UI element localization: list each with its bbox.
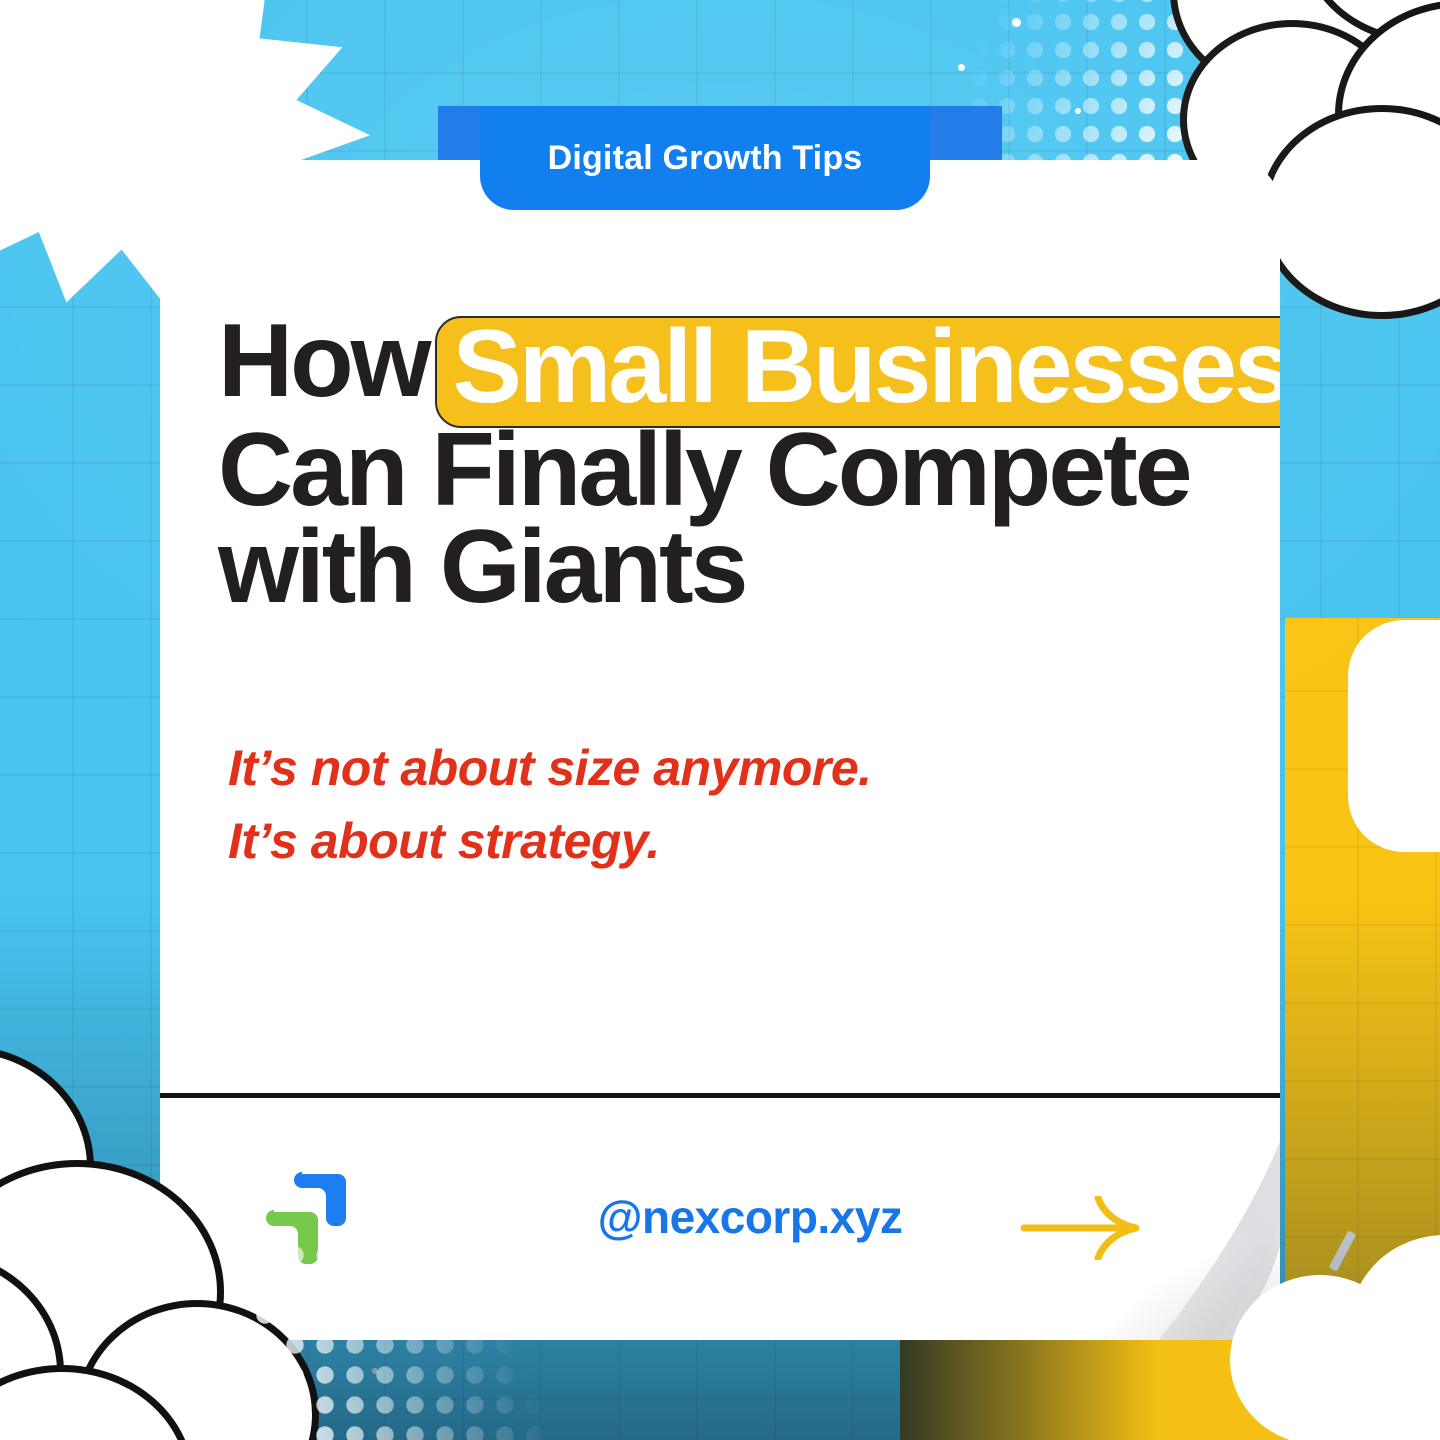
headline-line-2: Can Finally Compete (218, 422, 1228, 520)
headline-line-1: HowSmall Businesses (218, 310, 1228, 422)
headline-prefix: How (218, 303, 429, 419)
social-handle[interactable]: @nexcorp.xyz (460, 1190, 1040, 1244)
comic-cloud-bottom-right (1230, 1245, 1440, 1440)
page-title: HowSmall Businesses Can Finally Compete … (218, 310, 1228, 617)
banner-label: Digital Growth Tips (548, 139, 863, 178)
subheadline-line-2: It’s about strategy. (228, 805, 1128, 878)
social-post-canvas: Digital Growth Tips HowSmall Businesses … (0, 0, 1440, 1440)
halftone-dots-bottom-left (250, 1240, 710, 1440)
headline-line-3: with Giants (218, 519, 1228, 617)
subheadline: It’s not about size anymore. It’s about … (228, 732, 1128, 877)
arrow-right-icon[interactable] (1020, 1196, 1150, 1260)
subheadline-line-1: It’s not about size anymore. (228, 732, 1128, 805)
headline-highlight: Small Businesses (435, 316, 1280, 428)
banner-ribbon: Digital Growth Tips (480, 106, 930, 210)
